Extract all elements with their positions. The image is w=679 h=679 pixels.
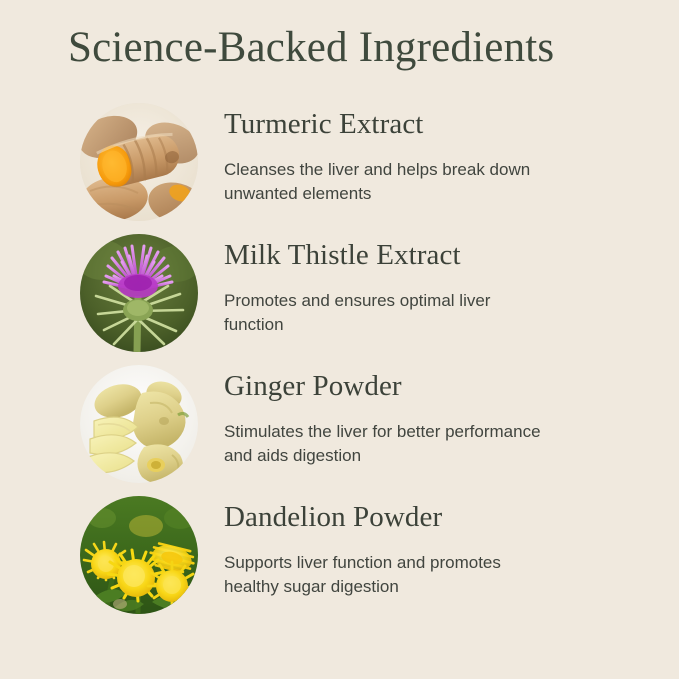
ingredient-copy: Dandelion Powder Supports liver function… xyxy=(224,488,654,599)
ingredient-description: Promotes and ensures optimal liver funct… xyxy=(224,289,554,337)
ingredients-infographic: Science-Backed Ingredients xyxy=(0,0,679,679)
ingredient-description: Supports liver function and promotes hea… xyxy=(224,551,554,599)
ingredient-row-turmeric: Turmeric Extract Cleanses the liver and … xyxy=(0,95,679,226)
ingredient-name: Dandelion Powder xyxy=(224,500,654,534)
ingredient-name: Milk Thistle Extract xyxy=(224,238,654,272)
ingredient-name: Ginger Powder xyxy=(224,369,654,403)
ingredient-row-milk-thistle: Milk Thistle Extract Promotes and ensure… xyxy=(0,226,679,357)
ingredient-copy: Ginger Powder Stimulates the liver for b… xyxy=(224,357,654,468)
turmeric-root-photo xyxy=(80,103,198,221)
ingredient-list: Turmeric Extract Cleanses the liver and … xyxy=(0,95,679,619)
ingredient-description: Stimulates the liver for better performa… xyxy=(224,420,554,468)
ingredient-row-dandelion: Dandelion Powder Supports liver function… xyxy=(0,488,679,619)
dandelion-flowers-photo xyxy=(80,496,198,614)
milk-thistle-flower-photo xyxy=(80,234,198,352)
ingredient-copy: Turmeric Extract Cleanses the liver and … xyxy=(224,95,654,206)
page-title: Science-Backed Ingredients xyxy=(68,22,628,74)
ingredient-row-ginger: Ginger Powder Stimulates the liver for b… xyxy=(0,357,679,488)
ingredient-name: Turmeric Extract xyxy=(224,107,654,141)
ingredient-description: Cleanses the liver and helps break down … xyxy=(224,158,554,206)
ingredient-copy: Milk Thistle Extract Promotes and ensure… xyxy=(224,226,654,337)
ginger-root-photo xyxy=(80,365,198,483)
